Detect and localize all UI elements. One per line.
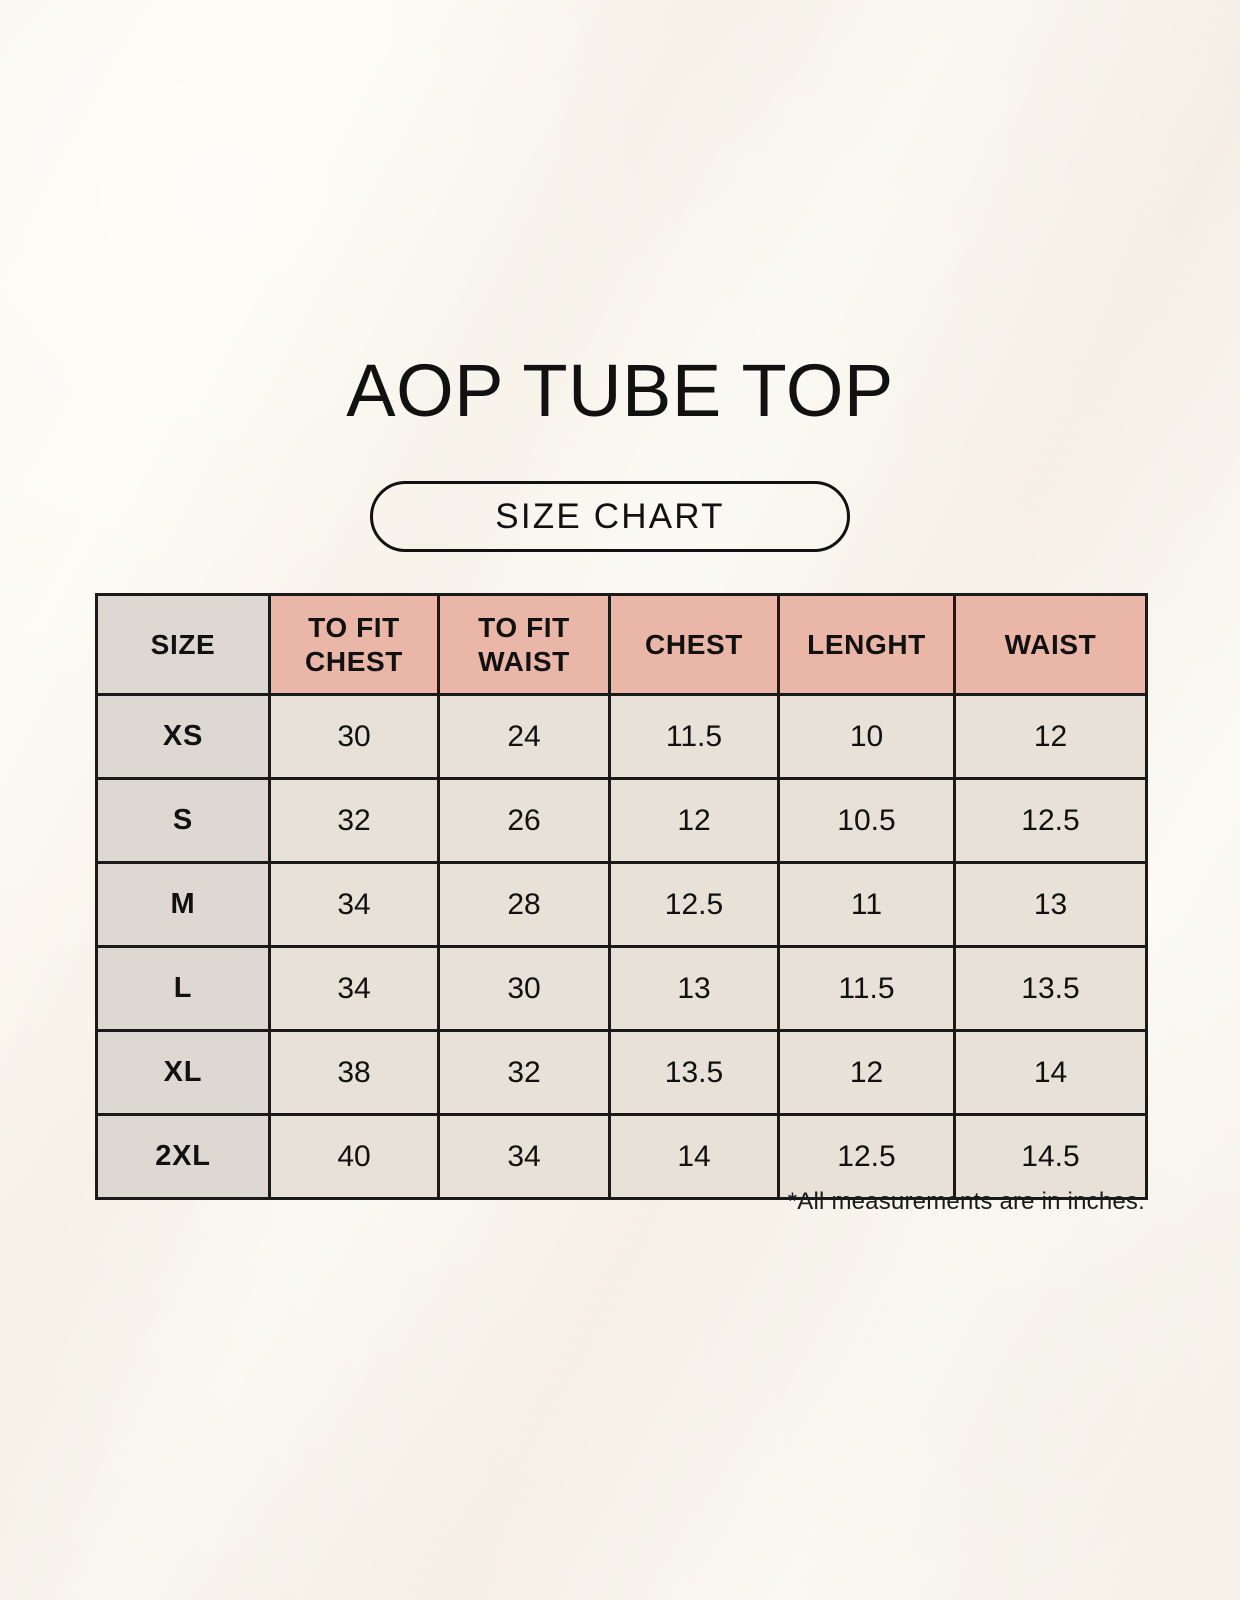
column-header-lenght-line1: LENGHT (807, 629, 926, 660)
table-row: 2XL 40 34 14 12.5 14.5 (97, 1115, 1147, 1199)
cell-size: S (97, 779, 270, 863)
cell-lenght: 10.5 (779, 779, 955, 863)
cell-waist: 14.5 (955, 1115, 1147, 1199)
cell-size: XS (97, 695, 270, 779)
column-header-to-fit-waist: TO FIT WAIST (439, 595, 610, 695)
cell-lenght: 11 (779, 863, 955, 947)
size-chart-badge: SIZE CHART (370, 481, 850, 552)
table-row: XS 30 24 11.5 10 12 (97, 695, 1147, 779)
column-header-chest-line1: CHEST (645, 629, 743, 660)
column-header-chest: CHEST (610, 595, 779, 695)
cell-to-fit-chest: 38 (270, 1031, 439, 1115)
cell-to-fit-waist: 28 (439, 863, 610, 947)
cell-size: M (97, 863, 270, 947)
cell-lenght: 12 (779, 1031, 955, 1115)
cell-to-fit-chest: 34 (270, 863, 439, 947)
cell-chest: 12.5 (610, 863, 779, 947)
cell-size: XL (97, 1031, 270, 1115)
cell-waist: 12.5 (955, 779, 1147, 863)
cell-to-fit-chest: 30 (270, 695, 439, 779)
cell-size: L (97, 947, 270, 1031)
table-row: S 32 26 12 10.5 12.5 (97, 779, 1147, 863)
column-header-to-fit-waist-line1: TO FIT (478, 612, 570, 643)
column-header-waist: WAIST (955, 595, 1147, 695)
cell-waist: 13 (955, 863, 1147, 947)
table-header: SIZE TO FIT CHEST TO FIT WAIST CHEST LEN… (97, 595, 1147, 695)
column-header-waist-line1: WAIST (1005, 629, 1097, 660)
column-header-lenght: LENGHT (779, 595, 955, 695)
table-row: XL 38 32 13.5 12 14 (97, 1031, 1147, 1115)
cell-waist: 12 (955, 695, 1147, 779)
cell-waist: 13.5 (955, 947, 1147, 1031)
cell-to-fit-waist: 34 (439, 1115, 610, 1199)
cell-lenght: 12.5 (779, 1115, 955, 1199)
measurements-footnote: *All measurements are in inches. (95, 1188, 1145, 1216)
cell-chest: 14 (610, 1115, 779, 1199)
size-chart-table: SIZE TO FIT CHEST TO FIT WAIST CHEST LEN… (95, 593, 1148, 1200)
cell-to-fit-chest: 34 (270, 947, 439, 1031)
cell-to-fit-waist: 32 (439, 1031, 610, 1115)
page-title: AOP TUBE TOP (0, 352, 1240, 430)
cell-chest: 13 (610, 947, 779, 1031)
cell-size: 2XL (97, 1115, 270, 1199)
cell-chest: 13.5 (610, 1031, 779, 1115)
cell-lenght: 10 (779, 695, 955, 779)
cell-lenght: 11.5 (779, 947, 955, 1031)
cell-chest: 11.5 (610, 695, 779, 779)
cell-to-fit-waist: 26 (439, 779, 610, 863)
size-chart-page: AOP TUBE TOP SIZE CHART SIZE TO FIT CHES… (0, 0, 1240, 1600)
cell-chest: 12 (610, 779, 779, 863)
cell-to-fit-waist: 24 (439, 695, 610, 779)
column-header-to-fit-chest-line2: CHEST (305, 646, 403, 677)
column-header-to-fit-chest: TO FIT CHEST (270, 595, 439, 695)
cell-to-fit-waist: 30 (439, 947, 610, 1031)
size-chart-badge-label: SIZE CHART (495, 497, 724, 537)
column-header-size-line1: SIZE (151, 629, 216, 660)
cell-to-fit-chest: 40 (270, 1115, 439, 1199)
table-row: M 34 28 12.5 11 13 (97, 863, 1147, 947)
cell-to-fit-chest: 32 (270, 779, 439, 863)
column-header-size: SIZE (97, 595, 270, 695)
table-header-row: SIZE TO FIT CHEST TO FIT WAIST CHEST LEN… (97, 595, 1147, 695)
table-row: L 34 30 13 11.5 13.5 (97, 947, 1147, 1031)
column-header-to-fit-chest-line1: TO FIT (308, 612, 400, 643)
table-body: XS 30 24 11.5 10 12 S 32 26 12 10.5 12.5… (97, 695, 1147, 1199)
column-header-to-fit-waist-line2: WAIST (478, 646, 570, 677)
cell-waist: 14 (955, 1031, 1147, 1115)
